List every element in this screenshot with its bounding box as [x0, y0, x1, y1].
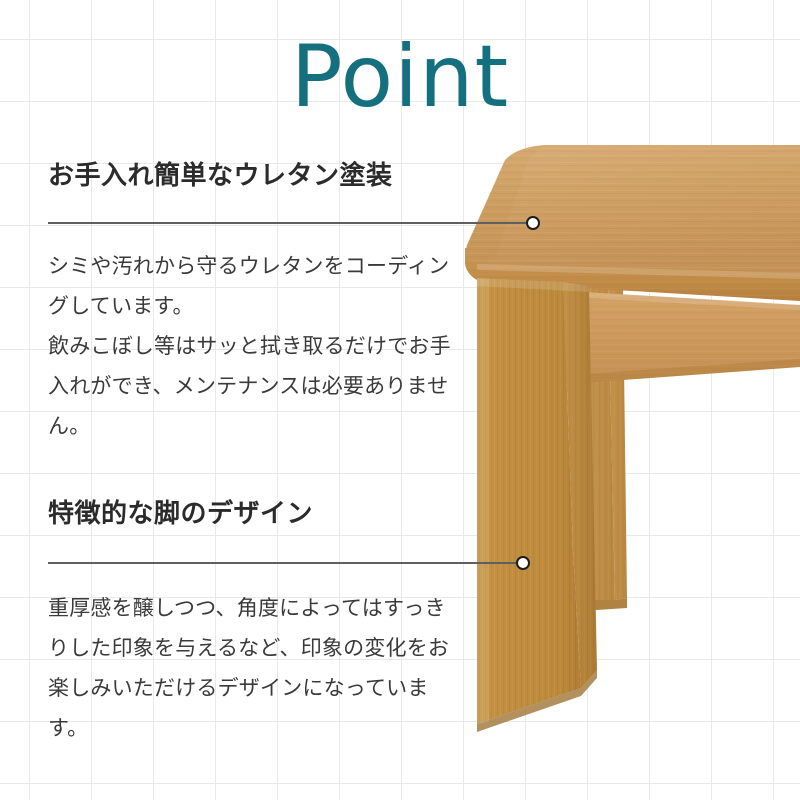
page-title: Point: [0, 34, 800, 120]
callout-leader-line-2: [48, 562, 524, 564]
point-feature-panel: Point お手入れ簡単なウレタン塗装 シミや汚れから守るウレタンをコーディング…: [0, 0, 800, 800]
callout-leader-line-1: [48, 222, 534, 224]
feature-body-1: シミや汚れから守るウレタンをコーディングしています。 飲みこぼし等はサッと拭き取…: [48, 246, 460, 446]
product-photo-dining-table: [455, 130, 800, 770]
callout-dot-icon-1: [526, 216, 540, 230]
feature-heading-2: 特徴的な脚のデザイン: [48, 498, 468, 531]
feature-section-2: 特徴的な脚のデザイン: [48, 498, 468, 531]
feature-heading-1: お手入れ簡単なウレタン塗装: [48, 160, 468, 193]
callout-dot-icon-2: [516, 556, 530, 570]
feature-body-2: 重厚感を醸しつつ、角度によってはすっきりした印象を与えるなど、印象の変化をお楽し…: [48, 588, 460, 748]
feature-section-1: お手入れ簡単なウレタン塗装: [48, 160, 468, 193]
front-leg: [477, 278, 597, 732]
